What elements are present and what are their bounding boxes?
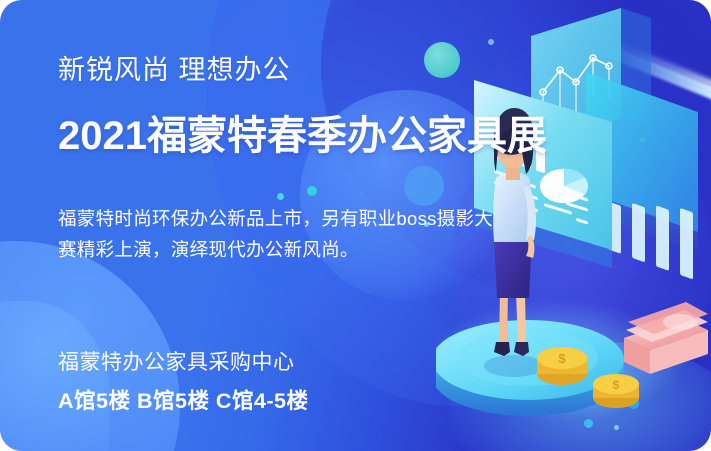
svg-text:$: $ [558, 351, 566, 366]
banner-subtitle: 新锐风尚 理想办公 [58, 48, 291, 87]
venue-name: 福蒙特办公家具采购中心 [58, 346, 295, 376]
venue-halls: A馆5楼 B馆5楼 C馆4-5楼 [58, 384, 309, 415]
svg-text:$: $ [613, 378, 620, 392]
gold-coin-stack: $ [537, 347, 587, 385]
banner-headline: 2021福蒙特春季办公家具展 [58, 103, 547, 161]
promo-banner: $ $ 新锐风尚 理想办公 2021福蒙特春季办公家具展 福蒙特时尚环保办公新品… [0, 0, 711, 451]
gold-coin-stack-small: $ [593, 374, 639, 408]
banknote-stack [624, 302, 708, 374]
banner-body-text: 福蒙特时尚环保办公新品上市，另有职业boss摄影大赛精彩上演，演绎现代办公新风尚… [58, 203, 498, 265]
banner-text-content: 新锐风尚 理想办公 2021福蒙特春季办公家具展 福蒙特时尚环保办公新品上市，另… [58, 0, 528, 451]
